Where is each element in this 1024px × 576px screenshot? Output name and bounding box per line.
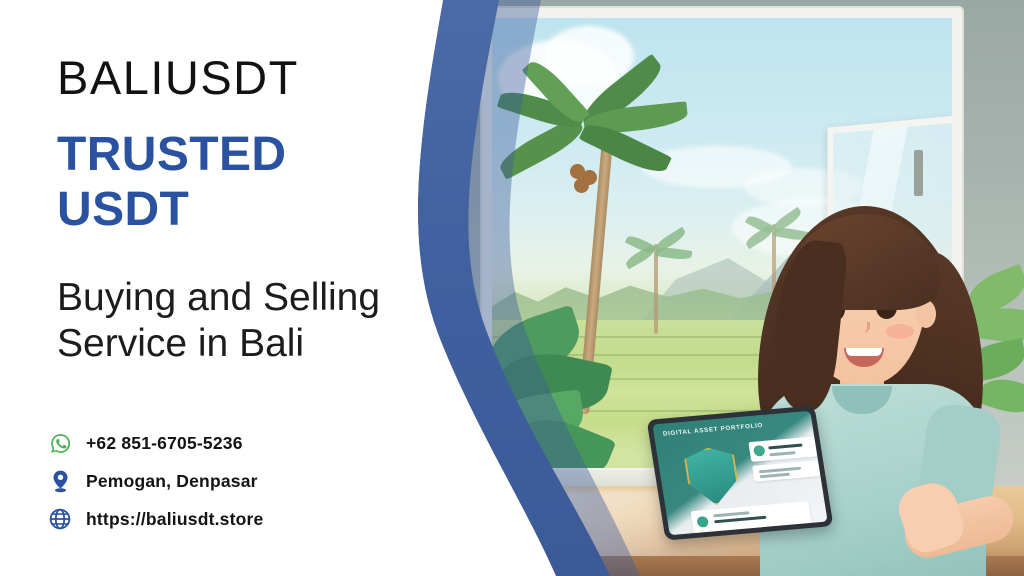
globe-icon — [45, 506, 75, 532]
card-text-line — [760, 473, 790, 478]
card-text-line — [769, 451, 795, 456]
whatsapp-icon — [45, 430, 75, 456]
contact-row-whatsapp[interactable]: +62 851-6705-5236 — [45, 424, 445, 462]
card-text-line — [714, 516, 766, 524]
promo-banner: DIGITAL ASSET PORTFOLIO — [0, 0, 1024, 576]
palm-tree — [650, 244, 690, 336]
subheadline-line-2: Service in Bali — [57, 321, 457, 367]
window-hinge — [914, 150, 923, 196]
contact-row-website[interactable]: https://baliusdt.store — [45, 500, 445, 538]
contact-list: +62 851-6705-5236 Pemogan, Denpasar — [45, 424, 445, 538]
teeth — [846, 348, 882, 356]
whatsapp-number: +62 851-6705-5236 — [86, 433, 243, 454]
brand-name: BALIUSDT — [57, 54, 299, 101]
tablet-card — [748, 436, 817, 462]
status-dot — [753, 445, 766, 457]
headline-line-1: TRUSTED — [57, 128, 437, 183]
tablet-title: DIGITAL ASSET PORTFOLIO — [662, 422, 763, 438]
location-pin-icon — [45, 468, 75, 494]
tablet-card — [752, 460, 820, 482]
blush — [886, 324, 914, 339]
website-url: https://baliusdt.store — [86, 509, 263, 530]
tablet-device[interactable]: DIGITAL ASSET PORTFOLIO — [647, 405, 834, 540]
subheadline-line-1: Buying and Selling — [57, 275, 457, 321]
contact-row-location[interactable]: Pemogan, Denpasar — [45, 462, 445, 500]
card-text-line — [759, 467, 801, 473]
headline: TRUSTED USDT — [57, 128, 437, 237]
headline-line-2: USDT — [57, 183, 437, 238]
illustration-photo: DIGITAL ASSET PORTFOLIO — [444, 0, 1024, 576]
location-text: Pemogan, Denpasar — [86, 471, 258, 492]
coconut — [574, 178, 589, 193]
text-panel: BALIUSDT TRUSTED USDT Buying and Selling… — [0, 0, 452, 576]
card-text-line — [713, 511, 749, 517]
tablet-screen[interactable]: DIGITAL ASSET PORTFOLIO — [652, 411, 827, 535]
subheadline: Buying and Selling Service in Bali — [57, 275, 457, 366]
shield-icon — [683, 446, 742, 508]
status-dot — [696, 516, 709, 528]
card-text-line — [768, 444, 802, 450]
